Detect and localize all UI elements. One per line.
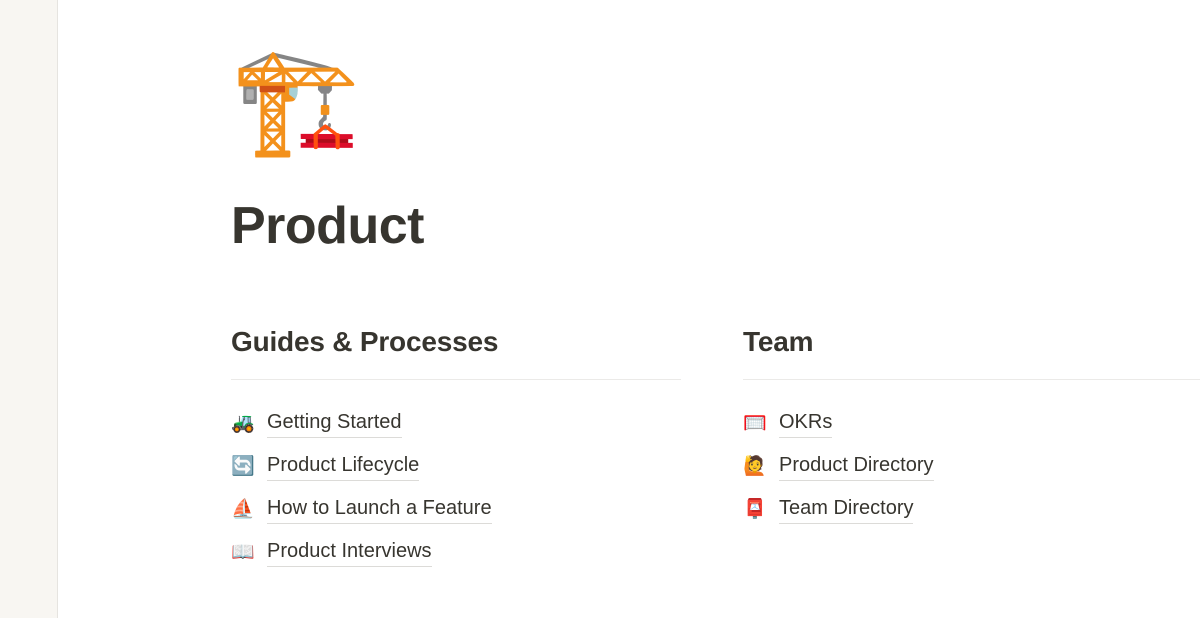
section-heading-guides: Guides & Processes [231,325,681,359]
link-getting-started[interactable]: Getting Started [267,409,402,438]
link-list-team: 🥅 OKRs 🙋 Product Directory 📮 Team Direct… [743,402,1200,531]
section-divider-team [743,379,1200,380]
tractor-icon: 🚜 [231,412,255,436]
link-product-interviews[interactable]: Product Interviews [267,538,432,567]
postbox-icon: 📮 [743,498,767,522]
sailboat-icon: ⛵ [231,498,255,522]
column-guides: Guides & Processes 🚜 Getting Started 🔄 P… [231,325,681,574]
link-list-guides: 🚜 Getting Started 🔄 Product Lifecycle ⛵ … [231,402,681,574]
page-content: 🏗️ Product Guides & Processes 🚜 Getting … [59,0,1200,630]
list-item[interactable]: 🥅 OKRs [743,402,1200,445]
list-item[interactable]: 🚜 Getting Started [231,402,681,445]
link-product-lifecycle[interactable]: Product Lifecycle [267,452,419,481]
list-item[interactable]: 📮 Team Directory [743,488,1200,531]
column-team: Team 🥅 OKRs 🙋 Product Directory 📮 Team D… [743,325,1200,574]
section-heading-team: Team [743,325,1200,359]
list-item[interactable]: 🙋 Product Directory [743,445,1200,488]
link-how-to-launch-a-feature[interactable]: How to Launch a Feature [267,495,492,524]
list-item[interactable]: 📖 Product Interviews [231,531,681,574]
link-team-directory[interactable]: Team Directory [779,495,913,524]
sync-arrows-icon: 🔄 [231,455,255,479]
section-divider-guides [231,379,681,380]
link-okrs[interactable]: OKRs [779,409,832,438]
link-product-directory[interactable]: Product Directory [779,452,934,481]
page-root: 🏗️ Product Guides & Processes 🚜 Getting … [0,0,1200,630]
column-container: Guides & Processes 🚜 Getting Started 🔄 P… [231,325,1200,574]
open-book-icon: 📖 [231,541,255,565]
left-sidebar-strip[interactable] [0,0,58,618]
goal-net-icon: 🥅 [743,412,767,436]
list-item[interactable]: ⛵ How to Launch a Feature [231,488,681,531]
construction-crane-emoji[interactable]: 🏗️ [231,42,349,160]
list-item[interactable]: 🔄 Product Lifecycle [231,445,681,488]
person-raising-hand-icon: 🙋 [743,455,767,479]
page-title: Product [231,198,424,255]
